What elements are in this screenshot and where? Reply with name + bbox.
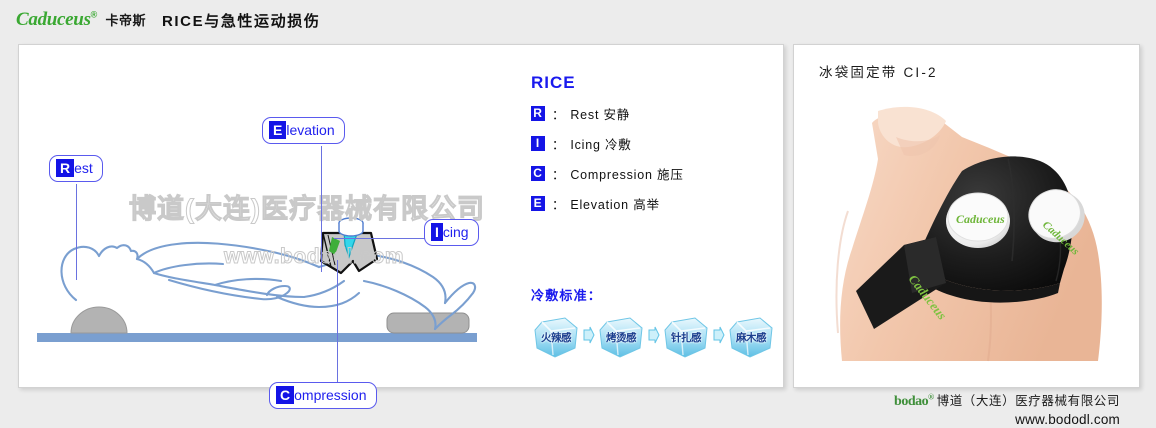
knee-ice-wrap — [321, 218, 377, 273]
callout-rest-letter: R — [57, 160, 73, 176]
callout-icing-label: cing — [443, 224, 469, 240]
callout-compression-letter: C — [277, 387, 293, 403]
rice-colon-0: ： — [552, 104, 565, 123]
leader-line-compression — [337, 260, 338, 384]
head-pillow — [71, 307, 127, 333]
product-photo: Caduceus Caduceus Caduceus — [812, 93, 1122, 373]
callout-icing-letter: I — [432, 224, 442, 240]
rice-legend-title: RICE — [531, 73, 781, 93]
page-title: RICE与急性运动损伤 — [162, 10, 320, 31]
rice-legend-item-elevation: E ： Elevation 高举 — [531, 194, 781, 213]
footer-company-line: bodao® 博道（大连）医疗器械有限公司 — [793, 390, 1120, 410]
rice-letter-r: R — [531, 106, 545, 121]
footer-logo-text: bodao — [894, 394, 928, 409]
ice-stage-label-2: 烤烫感 — [606, 330, 636, 345]
rice-colon-1: ： — [552, 134, 565, 153]
footer-logo: bodao® — [894, 394, 937, 409]
page-header: Caduceus® 卡帝斯 RICE与急性运动损伤 — [0, 0, 1156, 40]
callout-elevation-label: levation — [286, 122, 334, 138]
arrow-icon-3 — [712, 326, 725, 349]
callout-compression[interactable]: Compression — [269, 382, 377, 409]
rice-colon-3: ： — [552, 194, 565, 213]
ice-cube-stage-3: 针扎感 — [661, 314, 711, 360]
brand-name-cn: 卡帝斯 — [105, 13, 146, 28]
icing-stage-row: 火辣感 烤烫感 — [531, 314, 781, 360]
left-content-panel: 博道(大连)医疗器械有限公司 www.bododl.com Rest Eleva… — [18, 44, 784, 388]
rice-legend-item-icing: I ： Icing 冷敷 — [531, 134, 781, 153]
arrow-icon-2 — [647, 326, 660, 349]
brand-logo-text: Caduceus — [16, 9, 91, 30]
rice-colon-2: ： — [552, 164, 565, 183]
ice-stage-label-4: 麻木感 — [736, 330, 766, 345]
ice-stage-label-1: 火辣感 — [541, 330, 571, 345]
footer-company-name: 博道（大连）医疗器械有限公司 — [937, 394, 1120, 408]
footer-url[interactable]: www.bododl.com — [793, 412, 1120, 427]
rice-text-rest: Rest 安静 — [570, 104, 630, 123]
icing-standard-block: 冷敷标准： 火辣感 — [531, 285, 781, 360]
rice-diagram: 博道(大连)医疗器械有限公司 www.bododl.com Rest Eleva… — [19, 45, 524, 387]
patient-illustration — [19, 45, 524, 387]
leader-line-icing — [334, 238, 426, 239]
rice-letter-c: C — [531, 166, 545, 181]
rice-text-compression: Compression 施压 — [570, 164, 683, 183]
leader-line-elevation — [321, 146, 322, 272]
callout-rest[interactable]: Rest — [49, 155, 103, 182]
disc-brand-label-center: Caduceus — [956, 212, 1005, 226]
brand-logo: Caduceus® — [16, 9, 101, 30]
rice-legend: RICE R ： Rest 安静 I ： Icing 冷敷 C ： Compre… — [531, 73, 781, 224]
rice-legend-item-rest: R ： Rest 安静 — [531, 104, 781, 123]
registered-mark-icon: ® — [91, 10, 97, 20]
arrow-icon-1 — [582, 326, 595, 349]
rice-letter-e: E — [531, 196, 545, 211]
callout-elevation-letter: E — [270, 122, 285, 138]
rice-letter-i: I — [531, 136, 545, 151]
callout-elevation[interactable]: Elevation — [262, 117, 345, 144]
foot-elevation-block — [387, 313, 469, 333]
ice-cube-stage-1: 火辣感 — [531, 314, 581, 360]
registered-mark-icon: ® — [928, 392, 933, 401]
page-footer: bodao® 博道（大连）医疗器械有限公司 www.bododl.com — [793, 390, 1138, 426]
right-product-panel: 冰袋固定带 CI-2 — [793, 44, 1140, 388]
rice-text-icing: Icing 冷敷 — [570, 134, 631, 153]
ice-stage-label-3: 针扎感 — [671, 330, 701, 345]
callout-icing[interactable]: Icing — [424, 219, 479, 246]
icing-standard-title: 冷敷标准： — [531, 285, 781, 304]
product-title: 冰袋固定带 CI-2 — [819, 61, 938, 81]
callout-compression-label: ompression — [294, 387, 366, 403]
brand-lockup: Caduceus® 卡帝斯 — [0, 9, 146, 31]
bed-surface — [37, 333, 477, 342]
leader-line-rest — [76, 184, 77, 280]
ice-cube-stage-2: 烤烫感 — [596, 314, 646, 360]
rice-legend-item-compression: C ： Compression 施压 — [531, 164, 781, 183]
ice-cube-stage-4: 麻木感 — [726, 314, 776, 360]
rice-text-elevation: Elevation 高举 — [570, 194, 660, 213]
callout-rest-label: est — [74, 160, 93, 176]
